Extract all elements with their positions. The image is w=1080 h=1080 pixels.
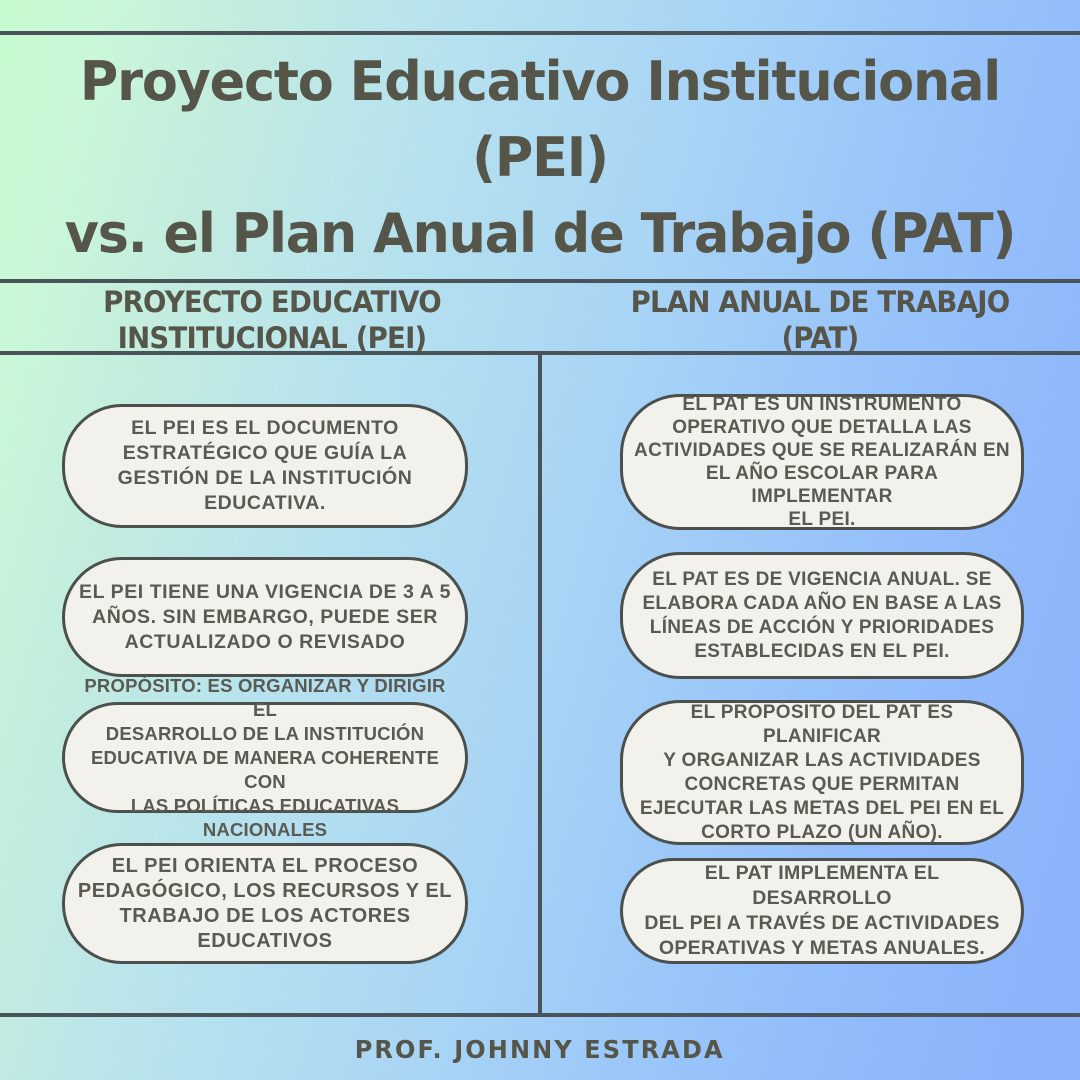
pei-card: EL PEI TIENE UNA VIGENCIA DE 3 A 5 AÑOS.… [62,557,468,677]
pei-card: EL PEI ES EL DOCUMENTO ESTRATÉGICO QUE G… [62,404,468,528]
column-header-pat: PLAN ANUAL DE TRABAJO (PAT) [583,284,1058,356]
column-header-pat-line-2: (PAT) [781,321,858,355]
column-pei: EL PEI ES EL DOCUMENTO ESTRATÉGICO QUE G… [0,353,538,1013]
pat-card-text: EL PAT IMPLEMENTA EL DESARROLLO DEL PEI … [633,861,1011,961]
pei-card: PROPÓSITO: ES ORGANIZAR Y DIRIGIR EL DES… [62,702,468,813]
title-line-2: vs. el Plan Anual de Trabajo (PAT) [16,196,1064,272]
column-header-pei: PROYECTO EDUCATIVO INSTITUCIONAL (PEI) [35,284,510,356]
page-title: Proyecto Educativo Institucional (PEI) v… [0,44,1080,272]
footer: PROF. JOHNNY ESTRADA [0,1035,1080,1064]
pei-card-text: EL PEI ORIENTA EL PROCESO PEDAGÓGICO, LO… [78,854,452,954]
column-header-pat-line-1: PLAN ANUAL DE TRABAJO [631,285,1010,319]
column-header-pei-line-2: INSTITUCIONAL (PEI) [118,321,427,355]
column-header-pei-line-1: PROYECTO EDUCATIVO [103,285,441,319]
divider-under-title [0,279,1080,283]
pei-card-text: EL PEI TIENE UNA VIGENCIA DE 3 A 5 AÑOS.… [79,580,451,655]
column-pat: EL PAT ES UN INSTRUMENTO OPERATIVO QUE D… [542,353,1080,1013]
infographic-poster: Proyecto Educativo Institucional (PEI) v… [0,0,1080,1080]
footer-author: PROF. JOHNNY ESTRADA [355,1035,725,1064]
title-line-1: Proyecto Educativo Institucional (PEI) [16,44,1064,196]
pat-card-text: EL PAT ES DE VIGENCIA ANUAL. SE ELABORA … [642,568,1001,664]
pat-card-text: EL PROPÓSITO DEL PAT ES PLANIFICAR Y ORG… [633,701,1011,845]
pat-card-text: EL PAT ES UN INSTRUMENTO OPERATIVO QUE D… [633,393,1011,531]
pei-card-text: PROPÓSITO: ES ORGANIZAR Y DIRIGIR EL DES… [75,674,455,842]
pat-card: EL PAT IMPLEMENTA EL DESARROLLO DEL PEI … [620,858,1024,964]
pat-card: EL PAT ES UN INSTRUMENTO OPERATIVO QUE D… [620,394,1024,530]
pat-card: EL PAT ES DE VIGENCIA ANUAL. SE ELABORA … [620,552,1024,679]
pei-card-text: EL PEI ES EL DOCUMENTO ESTRATÉGICO QUE G… [118,416,413,516]
pei-card: EL PEI ORIENTA EL PROCESO PEDAGÓGICO, LO… [62,843,468,964]
divider-top [0,31,1080,35]
pat-card: EL PROPÓSITO DEL PAT ES PLANIFICAR Y ORG… [620,700,1024,845]
